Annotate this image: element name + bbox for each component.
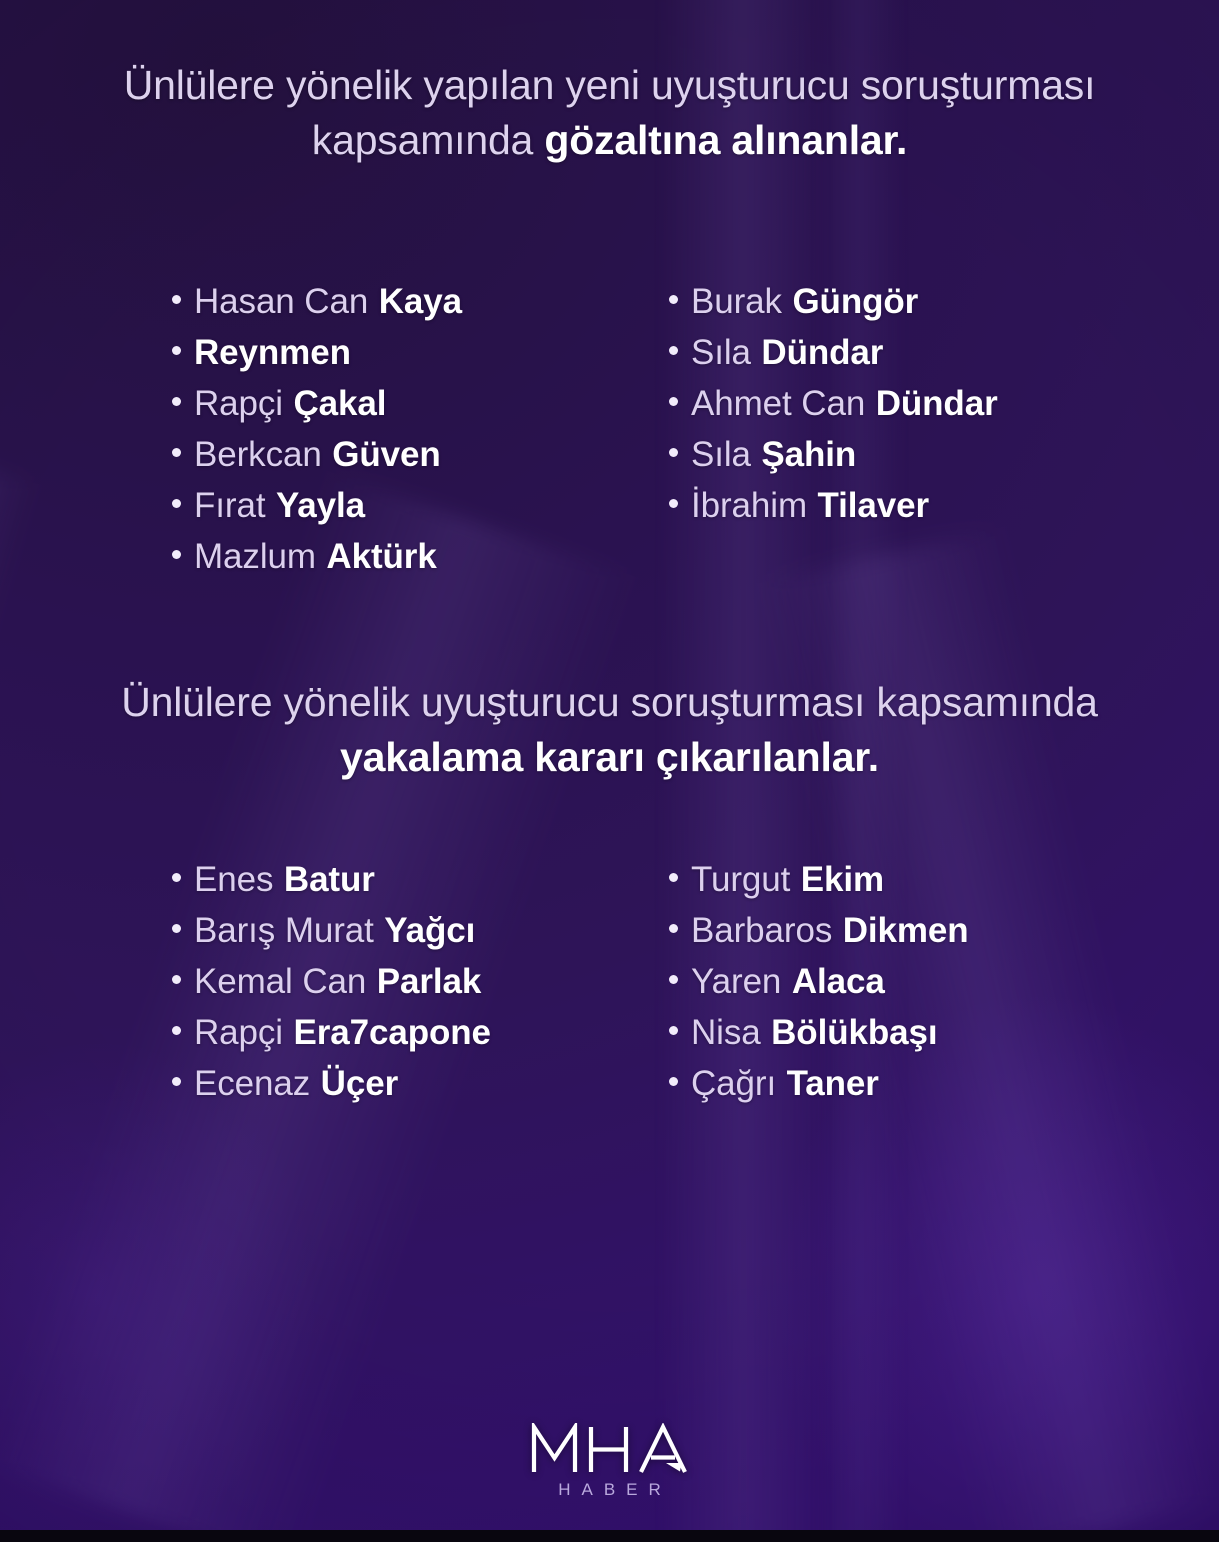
person-surname: Tilaver [818, 480, 930, 531]
person-surname: Bölükbaşı [771, 1007, 937, 1058]
person-surname: Çakal [293, 378, 386, 429]
poster-content: Ünlülere yönelik yapılan yeni uyuşturucu… [0, 0, 1219, 1542]
person-given-name: Barbaros [691, 905, 832, 956]
bullet-dot-icon [669, 499, 678, 508]
bullet-dot-icon [172, 346, 181, 355]
bullet-dot-icon [172, 975, 181, 984]
bullet-dot-icon [172, 1077, 181, 1086]
person-given-name: Ecenaz [194, 1058, 310, 1109]
person-given-name: Nisa [691, 1007, 761, 1058]
bullet-dot-icon [669, 1077, 678, 1086]
person-surname: Kaya [379, 276, 462, 327]
list-item: TurgutEkim [669, 854, 1129, 905]
person-surname: Alaca [792, 956, 885, 1007]
person-given-name: Enes [194, 854, 273, 905]
bullet-dot-icon [669, 295, 678, 304]
section-1-headline: Ünlülere yönelik yapılan yeni uyuşturucu… [0, 58, 1219, 167]
person-given-name: Kemal Can [194, 956, 366, 1007]
news-poster: Ünlülere yönelik yapılan yeni uyuşturucu… [0, 0, 1219, 1542]
person-given-name: Rapçi [194, 1007, 283, 1058]
warrant-list-left: EnesBatur Barış MuratYağcı Kemal CanParl… [172, 854, 669, 1109]
list-item: Barış MuratYağcı [172, 905, 669, 956]
bullet-dot-icon [669, 397, 678, 406]
person-surname: Güven [332, 429, 440, 480]
person-surname: Reynmen [194, 327, 351, 378]
bullet-dot-icon [172, 499, 181, 508]
person-given-name: Mazlum [194, 531, 316, 582]
person-given-name: Fırat [194, 480, 265, 531]
list-item: SılaDündar [669, 327, 1129, 378]
bullet-dot-icon [669, 975, 678, 984]
person-given-name: Burak [691, 276, 782, 327]
bullet-dot-icon [669, 346, 678, 355]
bullet-dot-icon [172, 924, 181, 933]
list-item: NisaBölükbaşı [669, 1007, 1129, 1058]
section-2-left-column: EnesBatur Barış MuratYağcı Kemal CanParl… [172, 854, 669, 1109]
person-surname: Güngör [792, 276, 918, 327]
detained-list-left: Hasan CanKaya Reynmen RapçiÇakal Berkcan… [172, 276, 669, 582]
person-given-name: Ahmet Can [691, 378, 865, 429]
section-2-headline: Ünlülere yönelik uyuşturucu soruşturması… [0, 675, 1219, 784]
person-given-name: Barış Murat [194, 905, 374, 956]
list-item: FıratYayla [172, 480, 669, 531]
bullet-dot-icon [172, 550, 181, 559]
person-given-name: Yaren [691, 956, 781, 1007]
section-1-left-column: Hasan CanKaya Reynmen RapçiÇakal Berkcan… [172, 276, 669, 582]
list-item: ÇağrıTaner [669, 1058, 1129, 1109]
list-item: BarbarosDikmen [669, 905, 1129, 956]
brand-logo: HABER [0, 1423, 1219, 1500]
person-given-name: Hasan Can [194, 276, 368, 327]
bullet-dot-icon [172, 1026, 181, 1035]
bullet-dot-icon [172, 295, 181, 304]
person-surname: Ekim [801, 854, 884, 905]
section-1-right-column: BurakGüngör SılaDündar Ahmet CanDündar S… [669, 276, 1129, 582]
bullet-dot-icon [172, 397, 181, 406]
person-surname: Batur [284, 854, 375, 905]
person-surname: Dikmen [843, 905, 969, 956]
person-surname: Parlak [377, 956, 482, 1007]
bullet-dot-icon [669, 924, 678, 933]
person-given-name: Sıla [691, 429, 751, 480]
list-item: EnesBatur [172, 854, 669, 905]
person-surname: Dündar [761, 327, 883, 378]
person-given-name: Berkcan [194, 429, 322, 480]
person-surname: Aktürk [326, 531, 436, 582]
mha-logo-icon [531, 1423, 689, 1475]
list-item: Kemal CanParlak [172, 956, 669, 1007]
person-surname: Üçer [321, 1058, 398, 1109]
list-item: RapçiÇakal [172, 378, 669, 429]
person-surname: Şahin [761, 429, 856, 480]
person-given-name: Turgut [691, 854, 790, 905]
person-surname: Dündar [876, 378, 998, 429]
bottom-bar [0, 1530, 1219, 1542]
bullet-dot-icon [669, 873, 678, 882]
list-item: BurakGüngör [669, 276, 1129, 327]
brand-logo-subtitle: HABER [547, 1480, 672, 1500]
bullet-dot-icon [669, 1026, 678, 1035]
person-given-name: Sıla [691, 327, 751, 378]
list-item: MazlumAktürk [172, 531, 669, 582]
list-item: İbrahimTilaver [669, 480, 1129, 531]
person-given-name: Çağrı [691, 1058, 776, 1109]
section-2-headline-emphasis: yakalama kararı çıkarılanlar. [340, 734, 879, 780]
section-2-right-column: TurgutEkim BarbarosDikmen YarenAlaca Nis… [669, 854, 1129, 1109]
section-2-headline-lead: Ünlülere yönelik uyuşturucu soruşturması… [121, 679, 1098, 725]
bullet-dot-icon [172, 448, 181, 457]
list-item: RapçiEra7capone [172, 1007, 669, 1058]
person-given-name: Rapçi [194, 378, 283, 429]
person-surname: Yağcı [384, 905, 475, 956]
list-item: YarenAlaca [669, 956, 1129, 1007]
warrant-list-right: TurgutEkim BarbarosDikmen YarenAlaca Nis… [669, 854, 1129, 1109]
list-item: SılaŞahin [669, 429, 1129, 480]
detained-list-right: BurakGüngör SılaDündar Ahmet CanDündar S… [669, 276, 1129, 531]
list-item: Ahmet CanDündar [669, 378, 1129, 429]
section-1-headline-emphasis: gözaltına alınanlar. [544, 117, 907, 163]
list-item: Reynmen [172, 327, 669, 378]
person-surname: Taner [787, 1058, 879, 1109]
person-given-name: İbrahim [691, 480, 807, 531]
list-item: Hasan CanKaya [172, 276, 669, 327]
section-1-lists: Hasan CanKaya Reynmen RapçiÇakal Berkcan… [0, 276, 1219, 582]
person-surname: Yayla [276, 480, 365, 531]
bullet-dot-icon [669, 448, 678, 457]
bullet-dot-icon [172, 873, 181, 882]
person-surname: Era7capone [293, 1007, 490, 1058]
list-item: BerkcanGüven [172, 429, 669, 480]
section-2-lists: EnesBatur Barış MuratYağcı Kemal CanParl… [0, 854, 1219, 1109]
list-item: EcenazÜçer [172, 1058, 669, 1109]
